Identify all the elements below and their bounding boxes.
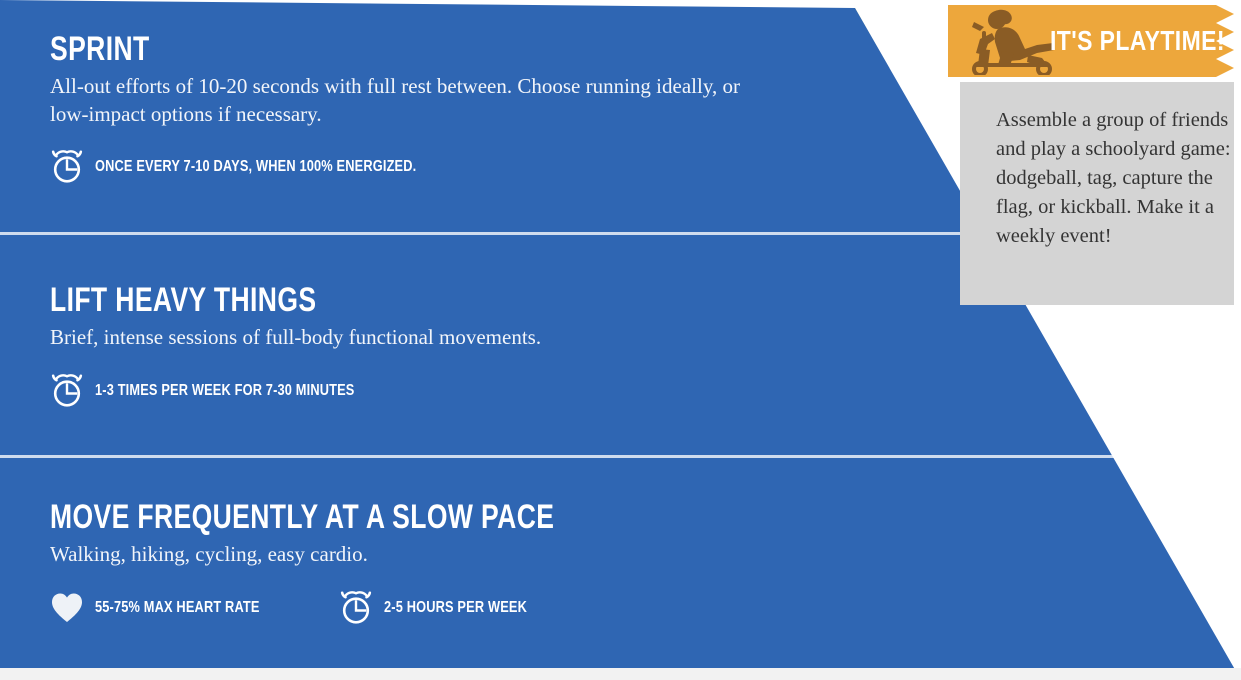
meta-row-lift: 1-3 TIMES PER WEEK FOR 7-30 MINUTES (50, 374, 541, 408)
meta-item: ONCE EVERY 7-10 DAYS, WHEN 100% ENERGIZE… (50, 150, 497, 184)
bottom-strip (0, 668, 1241, 680)
heart-icon (50, 591, 84, 625)
headline-lift: LIFT HEAVY THINGS (50, 283, 433, 317)
meta-label: ONCE EVERY 7-10 DAYS, WHEN 100% ENERGIZE… (95, 158, 416, 176)
meta-label: 1-3 TIMES PER WEEK FOR 7-30 MINUTES (95, 382, 355, 400)
level-block-sprint: SPRINT All-out efforts of 10-20 seconds … (50, 32, 750, 184)
scooter-kid-icon (962, 9, 1054, 75)
infographic-canvas: SPRINT All-out efforts of 10-20 seconds … (0, 0, 1241, 680)
meta-label: 55-75% MAX HEART RATE (95, 599, 260, 617)
meta-label: 2-5 HOURS PER WEEK (384, 599, 527, 617)
playtime-body-text: Assemble a group of friends and play a s… (996, 106, 1232, 252)
playtime-title: IT'S PLAYTIME! (1050, 25, 1225, 57)
alarm-clock-icon (50, 374, 84, 408)
description-lift: Brief, intense sessions of full-body fun… (50, 324, 541, 352)
band-divider-2 (0, 455, 1241, 458)
headline-sprint: SPRINT (50, 32, 596, 66)
alarm-clock-icon (50, 150, 84, 184)
playtime-body-box: Assemble a group of friends and play a s… (960, 82, 1234, 305)
meta-item: 1-3 TIMES PER WEEK FOR 7-30 MINUTES (50, 374, 419, 408)
description-sprint: All-out efforts of 10-20 seconds with fu… (50, 73, 750, 128)
meta-item: 55-75% MAX HEART RATE (50, 591, 301, 625)
alarm-clock-icon (339, 591, 373, 625)
level-block-lift: LIFT HEAVY THINGS Brief, intense session… (50, 283, 541, 408)
meta-item: 2-5 HOURS PER WEEK (339, 591, 563, 625)
meta-row-move: 55-75% MAX HEART RATE 2-5 HOURS PER WEEK (50, 591, 697, 625)
description-move: Walking, hiking, cycling, easy cardio. (50, 541, 697, 569)
level-block-move: MOVE FREQUENTLY AT A SLOW PACE Walking, … (50, 500, 697, 625)
meta-row-sprint: ONCE EVERY 7-10 DAYS, WHEN 100% ENERGIZE… (50, 150, 750, 184)
headline-move: MOVE FREQUENTLY AT A SLOW PACE (50, 500, 554, 534)
